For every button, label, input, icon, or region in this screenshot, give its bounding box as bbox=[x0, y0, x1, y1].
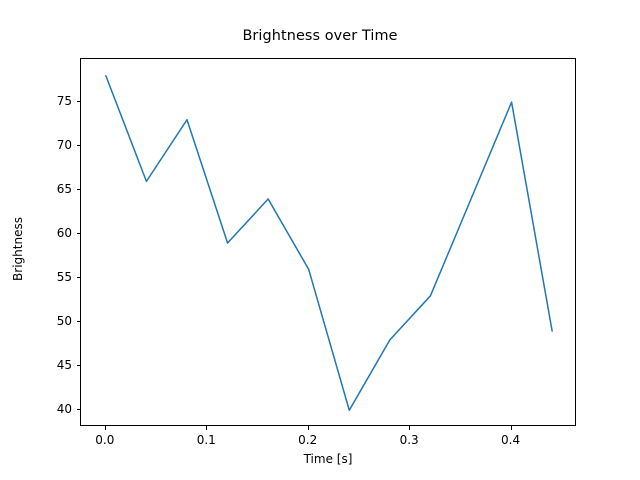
y-tick-label: 40 bbox=[34, 402, 72, 416]
x-tick-label: 0.4 bbox=[501, 433, 520, 447]
x-tick-mark bbox=[308, 426, 309, 430]
x-tick-label: 0.2 bbox=[298, 433, 317, 447]
y-axis-label-text: Brightness bbox=[11, 217, 25, 281]
y-tick-mark bbox=[77, 233, 81, 234]
x-tick-mark bbox=[409, 426, 410, 430]
line-plot bbox=[81, 59, 577, 427]
x-axis-label: Time [s] bbox=[80, 452, 576, 466]
x-tick-label: 0.1 bbox=[197, 433, 216, 447]
y-tick-mark bbox=[77, 189, 81, 190]
data-series-line bbox=[106, 76, 552, 411]
y-tick-label: 70 bbox=[34, 138, 72, 152]
y-tick-mark bbox=[77, 409, 81, 410]
figure-canvas: Brightness over Time 4045505560657075 0.… bbox=[0, 0, 640, 480]
y-tick-label: 55 bbox=[34, 270, 72, 284]
y-tick-mark bbox=[77, 145, 81, 146]
x-tick-mark bbox=[206, 426, 207, 430]
x-tick-mark bbox=[511, 426, 512, 430]
x-tick-label: 0.3 bbox=[400, 433, 419, 447]
y-tick-mark bbox=[77, 321, 81, 322]
x-tick-mark bbox=[105, 426, 106, 430]
x-tick-label: 0.0 bbox=[95, 433, 114, 447]
y-tick-mark bbox=[77, 101, 81, 102]
chart-title: Brightness over Time bbox=[0, 28, 640, 44]
y-tick-label: 50 bbox=[34, 314, 72, 328]
y-tick-mark bbox=[77, 365, 81, 366]
y-tick-label: 65 bbox=[34, 182, 72, 196]
y-tick-mark bbox=[77, 277, 81, 278]
y-tick-label: 45 bbox=[34, 358, 72, 372]
y-tick-label: 75 bbox=[34, 94, 72, 108]
plot-axes-frame bbox=[80, 58, 576, 426]
y-tick-label: 60 bbox=[34, 226, 72, 240]
